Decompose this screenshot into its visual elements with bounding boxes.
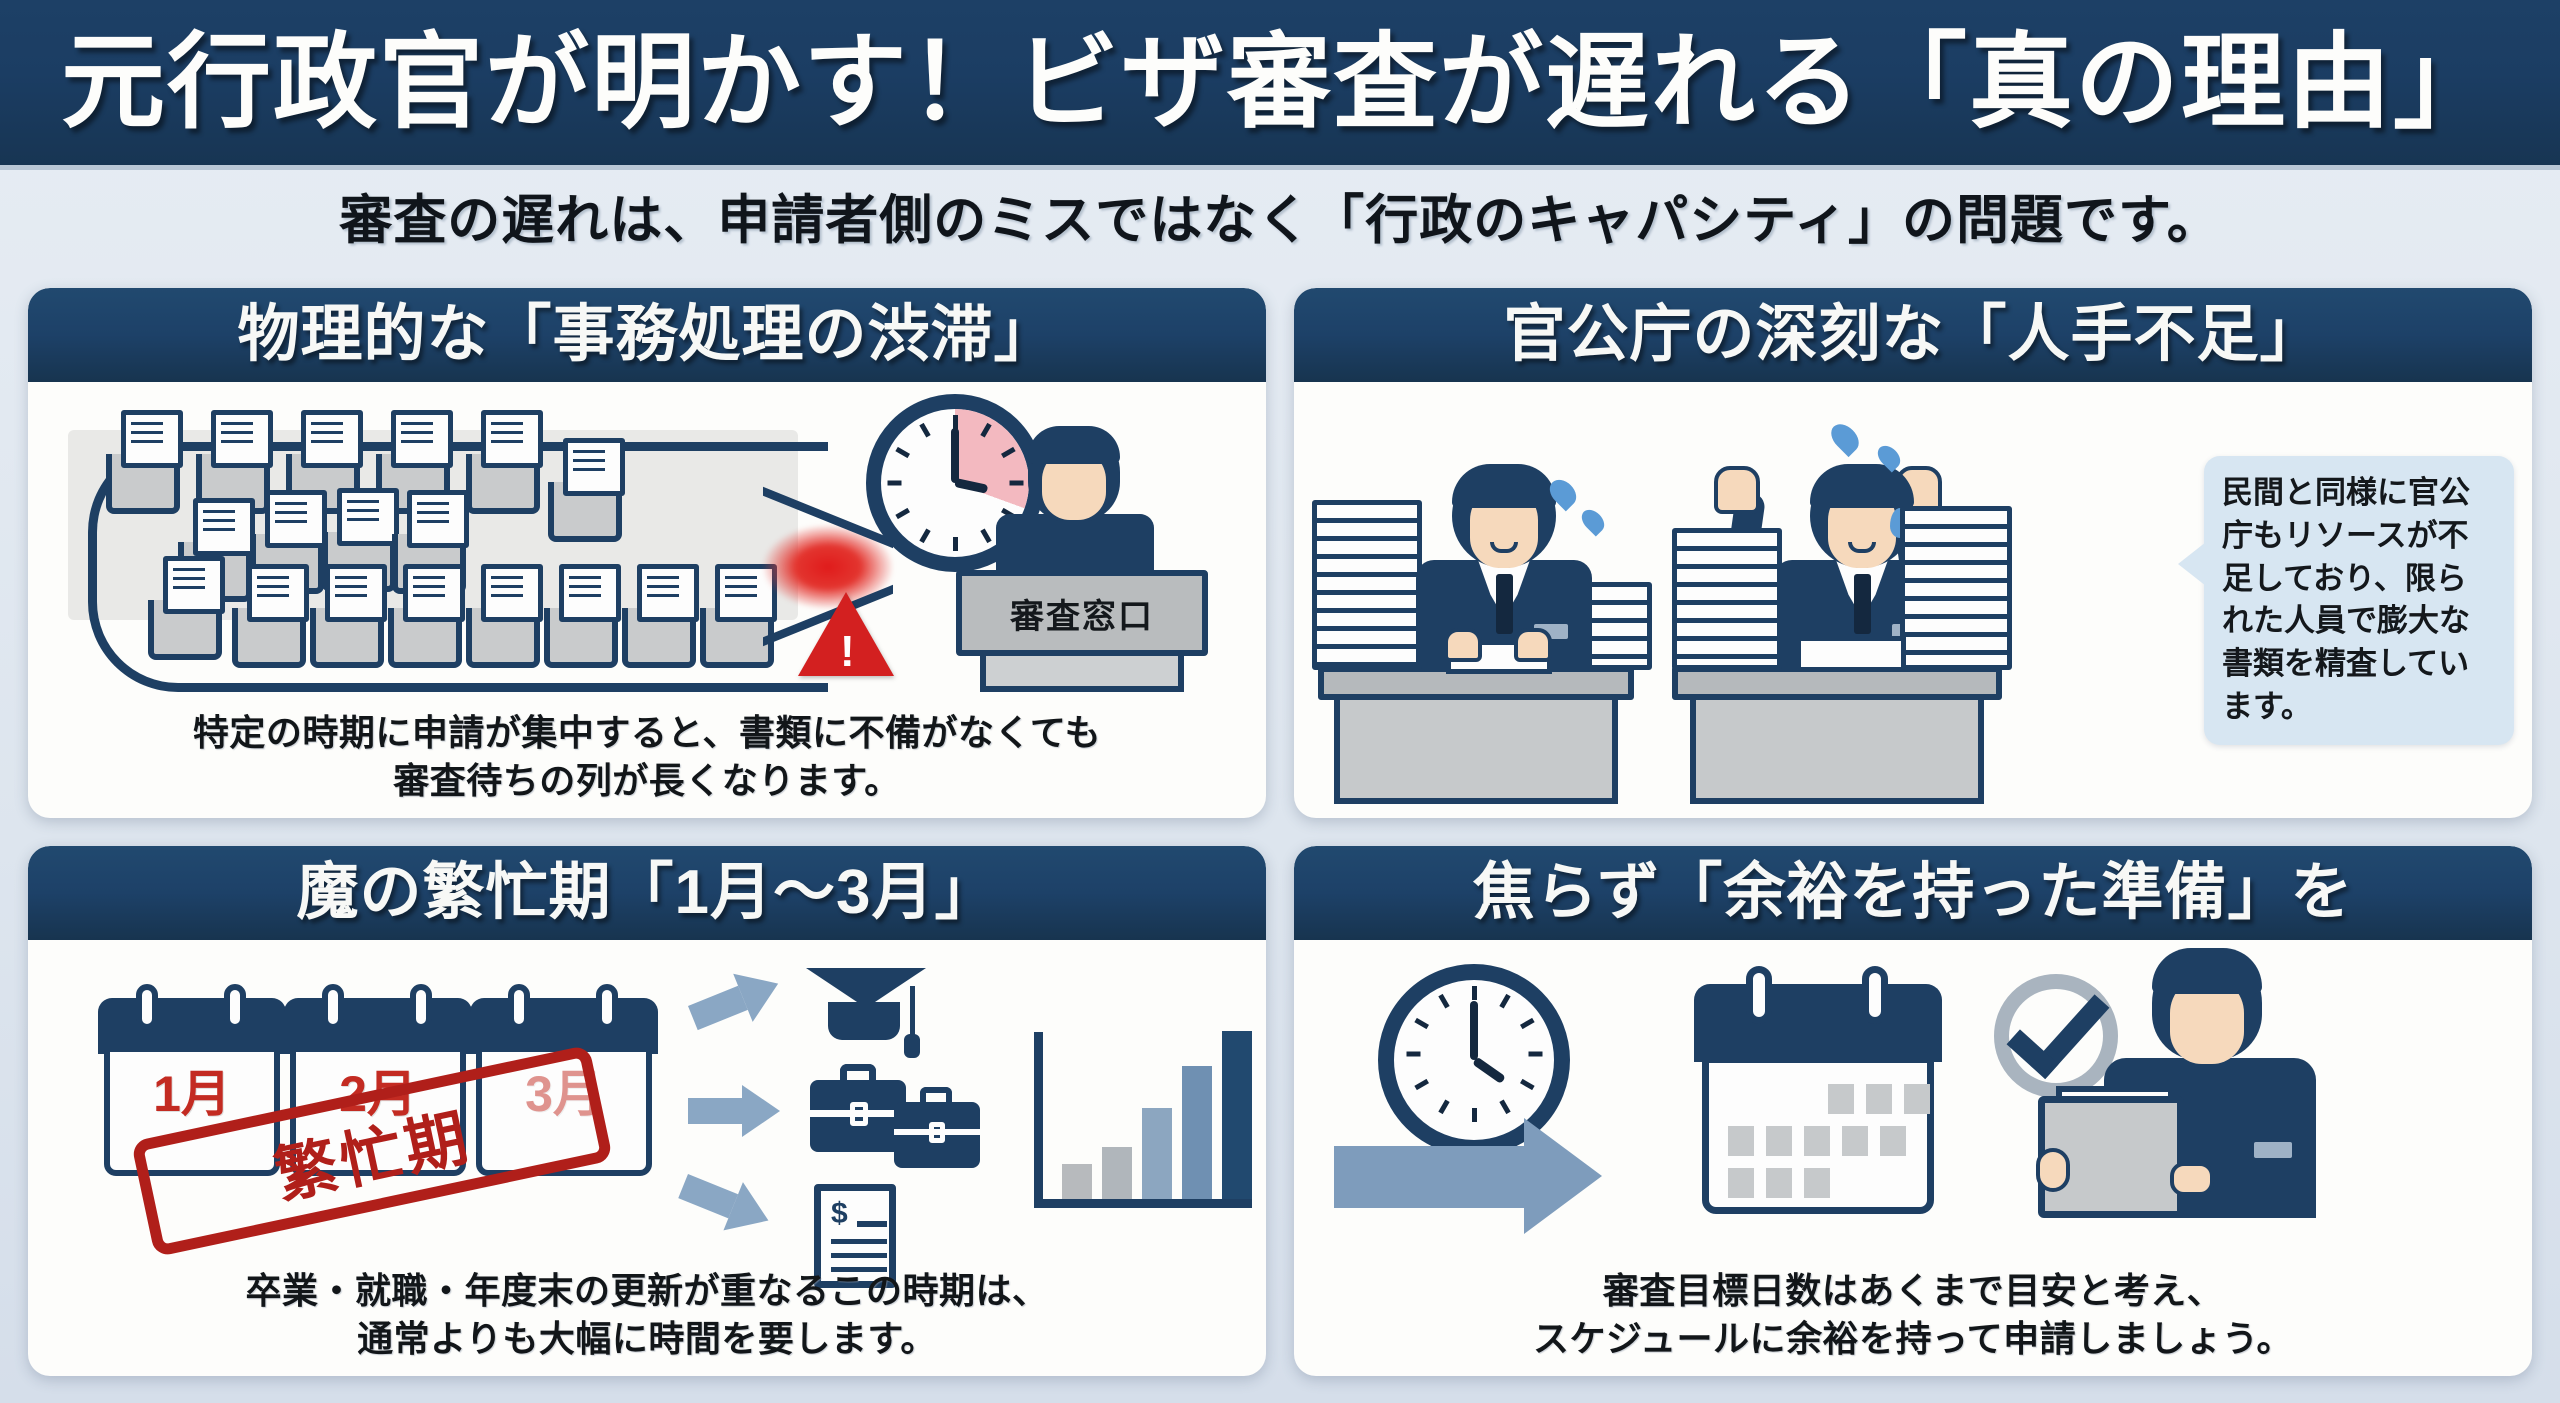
- document-tray-icon: [148, 600, 222, 660]
- document-tray-icon: [544, 608, 618, 668]
- chart-bar: [1182, 1066, 1212, 1199]
- document-tray-icon: [622, 608, 696, 668]
- infographic-page: 元行政官が明かす！ビザ審査が遅れる「真の理由」 審査の遅れは、申請者側のミスでは…: [0, 0, 2560, 1403]
- document-tray-icon: [466, 608, 540, 668]
- card-note: 審査目標日数はあくまで目安と考え、 スケジュールに余裕を持って申請しましょう。: [1294, 1267, 2532, 1364]
- card-grid: 物理的な「事務処理の渋滞」: [28, 288, 2532, 1388]
- staff-shortage-illustration: 民間と同様に官公庁もリソースが不足しており、限られた人員で膨大な書類を精査してい…: [1294, 382, 2532, 808]
- briefcase-icon: [894, 1102, 980, 1168]
- card-note-line1: 卒業・就職・年度末の更新が重なるこの時期は、: [28, 1267, 1266, 1316]
- counter-label: 審査窓口: [1010, 589, 1154, 638]
- card-note: 特定の時期に申請が集中すると、書類に不備がなくても 審査待ちの列が長くなります。: [28, 709, 1266, 806]
- prepare-illustration: [1294, 940, 2532, 1258]
- briefcase-icon: [810, 1080, 906, 1152]
- clerk-hand-icon: [1444, 628, 1482, 662]
- card-body: !: [28, 382, 1266, 818]
- chart-bar: [1142, 1108, 1172, 1199]
- card-header: 焦らず「余裕を持った準備」を: [1294, 846, 2532, 940]
- calendar-icon: [1694, 966, 1942, 1218]
- card-header: 魔の繁忙期「1月〜3月」: [28, 846, 1266, 940]
- sweat-drop-icon: [1577, 505, 1608, 536]
- warning-exclamation-icon: !: [840, 630, 855, 674]
- card-title: 物理的な「事務処理の渋滞」: [237, 304, 1056, 366]
- chart-y-axis: [1034, 1032, 1043, 1208]
- speech-bubble-text: 民間と同様に官公庁もリソースが不足しており、限られた人員で膨大な書類を精査してい…: [2222, 475, 2470, 724]
- paper-sheet-icon: [1796, 636, 1906, 672]
- congestion-illustration: !: [28, 382, 1266, 700]
- chart-x-axis: [1034, 1199, 1252, 1208]
- card-note-line2: 通常よりも大幅に時間を要します。: [28, 1315, 1266, 1364]
- desk-leg: [1690, 700, 1984, 804]
- document-tray-icon: [106, 454, 180, 514]
- officer-hair-icon: [1028, 426, 1120, 464]
- card-header: 官公庁の深刻な「人手不足」: [1294, 288, 2532, 382]
- card-note-line2: スケジュールに余裕を持って申請しましょう。: [1294, 1315, 2532, 1364]
- card-note-line1: 審査目標日数はあくまで目安と考え、: [1294, 1267, 2532, 1316]
- clerk-hand-icon: [1514, 628, 1552, 662]
- sweat-drop-icon: [1826, 419, 1864, 457]
- person-hand-icon: [2170, 1162, 2214, 1196]
- card-physical-congestion: 物理的な「事務処理の渋滞」: [28, 288, 1266, 818]
- card-body: 民間と同様に官公庁もリソースが不足しており、限られた人員で膨大な書類を精査してい…: [1294, 382, 2532, 818]
- card-prepare-early: 焦らず「余裕を持った準備」を: [1294, 846, 2532, 1376]
- clerk-hand-icon: [1714, 466, 1760, 514]
- document-stack-icon: [1312, 500, 1422, 670]
- card-note-line1: 特定の時期に申請が集中すると、書類に不備がなくても: [28, 709, 1266, 758]
- counter-base: [980, 650, 1184, 692]
- card-title: 焦らず「余裕を持った準備」を: [1473, 862, 2354, 924]
- card-body: 1月 2月 3月: [28, 940, 1266, 1376]
- person-hair-icon: [2152, 948, 2262, 994]
- document-tray-icon: [310, 608, 384, 668]
- desk-leg: [1334, 700, 1618, 804]
- bar-chart-icon: [1034, 1018, 1262, 1208]
- speech-bubble: 民間と同様に官公庁もリソースが不足しており、限られた人員で膨大な書類を精査してい…: [2204, 456, 2514, 745]
- card-header: 物理的な「事務処理の渋滞」: [28, 288, 1266, 382]
- stamp-label: 繁忙期: [266, 1086, 478, 1215]
- clerk-head-icon: [1452, 464, 1556, 568]
- document-stack-icon: [1672, 528, 1782, 670]
- document-tray-icon: [388, 608, 462, 668]
- card-title: 官公庁の深刻な「人手不足」: [1503, 304, 2322, 366]
- document-stack-icon: [1900, 506, 2012, 670]
- card-note-line2: 審査待ちの列が長くなります。: [28, 757, 1266, 806]
- chart-bar: [1102, 1147, 1132, 1199]
- person-hand-icon: [2036, 1148, 2070, 1192]
- counter-sign: 審査窓口: [956, 570, 1208, 656]
- document-tray-icon: [232, 608, 306, 668]
- card-title: 魔の繁忙期「1月〜3月」: [297, 862, 998, 924]
- card-body: 審査目標日数はあくまで目安と考え、 スケジュールに余裕を持って申請しましょう。: [1294, 940, 2532, 1376]
- document-tray-icon: [548, 482, 622, 542]
- page-subtitle: 審査の遅れは、申請者側のミスではなく「行政のキャパシティ」の問題です。: [0, 178, 2560, 254]
- card-staff-shortage: 官公庁の深刻な「人手不足」: [1294, 288, 2532, 818]
- chart-bar: [1222, 1031, 1252, 1199]
- document-tray-icon: [466, 454, 540, 514]
- busy-season-illustration: 1月 2月 3月: [28, 940, 1266, 1258]
- chart-bar: [1062, 1164, 1092, 1199]
- header-bar: 元行政官が明かす！ビザ審査が遅れる「真の理由」: [0, 0, 2560, 170]
- card-note: 卒業・就職・年度末の更新が重なるこの時期は、 通常よりも大幅に時間を要します。: [28, 1267, 1266, 1364]
- page-title: 元行政官が明かす！ビザ審査が遅れる「真の理由」: [61, 31, 2499, 135]
- card-busy-season: 魔の繁忙期「1月〜3月」 1月: [28, 846, 1266, 1376]
